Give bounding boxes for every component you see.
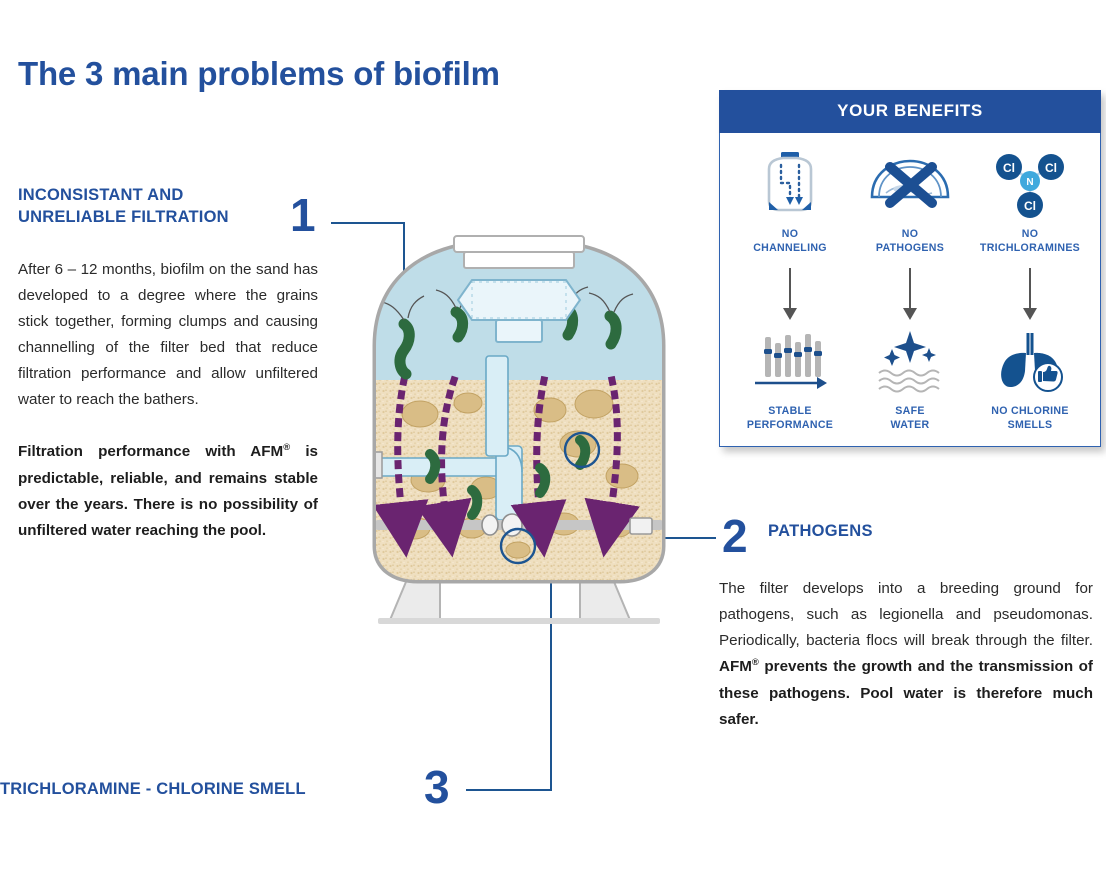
svg-text:Cl: Cl <box>1003 161 1015 175</box>
safe-water-sparkle-icon <box>850 326 970 398</box>
label-line-2: TRICHLORAMINES <box>980 242 1080 254</box>
label-line-1: NO <box>782 228 799 240</box>
afm-bold-prefix: Filtration performance with AFM <box>18 443 283 460</box>
svg-text:Cl: Cl <box>1045 161 1057 175</box>
section-heading-pathogens: PATHOGENS <box>768 522 873 541</box>
svg-text:N: N <box>1026 177 1033 188</box>
benefit-no-pathogens: NO PATHOGENS <box>850 149 970 256</box>
lungs-thumbs-up-icon <box>970 326 1090 398</box>
marker-number-3: 3 <box>424 764 450 810</box>
label-line-1: NO <box>902 228 919 240</box>
label-line-1: NO <box>1022 228 1039 240</box>
down-arrow-icon <box>730 268 850 322</box>
afm-bold-prefix: AFM <box>719 658 752 675</box>
benefit-label-no-pathogens: NO PATHOGENS <box>850 227 970 256</box>
heading-line-1: INCONSISTANT AND <box>18 186 183 204</box>
label-line-2: PATHOGENS <box>876 242 944 254</box>
benefit-no-channeling: NO CHANNELING <box>730 149 850 256</box>
pathogens-text-normal: The filter develops into a breeding grou… <box>719 580 1093 649</box>
benefits-arrow-row <box>730 268 1090 322</box>
trichloramine-molecule-icon: Cl Cl N Cl <box>970 149 1090 221</box>
no-pathogens-icon <box>850 149 970 221</box>
side-nozzle <box>630 518 652 534</box>
benefits-panel: YOUR BENEFITS <box>719 90 1101 447</box>
bacterium <box>430 454 435 479</box>
filter-lid <box>454 236 584 268</box>
label-line-2: WATER <box>891 419 930 431</box>
benefits-top-row: NO CHANNELING <box>730 149 1090 256</box>
benefit-stable-performance: STABLE PERFORMANCE <box>730 326 850 433</box>
bacterium <box>540 468 545 493</box>
benefit-label-no-trichloramines: NO TRICHLORAMINES <box>970 227 1090 256</box>
filtration-bold-paragraph: Filtration performance with AFM® is pred… <box>18 439 318 544</box>
bacterium <box>472 490 477 515</box>
benefits-bottom-row: STABLE PERFORMANCE <box>730 326 1090 433</box>
bacterium-circled <box>580 440 585 465</box>
filtration-paragraph: After 6 – 12 months, biofilm on the sand… <box>18 257 318 414</box>
benefit-label-safe-water: SAFE WATER <box>850 404 970 433</box>
marker-number-1: 1 <box>290 192 316 238</box>
sand-filter-diagram <box>368 228 670 633</box>
registered-mark: ® <box>752 656 759 667</box>
infographic-page: The 3 main problems of biofilm INCONSIST… <box>0 0 1106 869</box>
left-column: INCONSISTANT AND UNRELIABLE FILTRATION A… <box>18 185 318 544</box>
benefit-label-stable-performance: STABLE PERFORMANCE <box>730 404 850 433</box>
benefit-label-no-channeling: NO CHANNELING <box>730 227 850 256</box>
afm-bold-rest: prevents the growth and the transmission… <box>719 658 1093 727</box>
heading-line-2: UNRELIABLE FILTRATION <box>18 208 229 226</box>
benefit-no-chlorine-smells: NO CHLORINE SMELLS <box>970 326 1090 433</box>
leader-line-1-horizontal <box>331 222 405 224</box>
pathogens-paragraph: The filter develops into a breeding grou… <box>719 576 1093 733</box>
label-line-1: NO CHLORINE <box>991 405 1068 417</box>
stable-performance-chart-icon <box>730 326 850 398</box>
leader-line-3-horizontal <box>466 789 552 791</box>
down-arrow-icon <box>850 268 970 322</box>
benefit-label-no-chlorine-smells: NO CHLORINE SMELLS <box>970 404 1090 433</box>
marker-number-2: 2 <box>722 513 748 559</box>
benefits-panel-body: NO CHANNELING <box>719 133 1101 447</box>
pathogens-text-bold: AFM® prevents the growth and the transmi… <box>719 658 1093 727</box>
underdrain-valves <box>482 514 542 536</box>
benefit-safe-water: SAFE WATER <box>850 326 970 433</box>
down-arrow-icon <box>970 268 1090 322</box>
label-line-1: SAFE <box>895 405 924 417</box>
page-title: The 3 main problems of biofilm <box>18 55 658 93</box>
benefits-panel-header: YOUR BENEFITS <box>719 90 1101 133</box>
svg-text:Cl: Cl <box>1024 199 1036 213</box>
label-line-2: PERFORMANCE <box>747 419 833 431</box>
label-line-2: CHANNELING <box>753 242 827 254</box>
label-line-1: STABLE <box>768 405 811 417</box>
benefit-no-trichloramines: Cl Cl N Cl NO TRICHLORAMINES <box>970 149 1090 256</box>
filter-no-channeling-icon <box>730 149 850 221</box>
section-heading-trichloramine: TRICHLORAMINE - CHLORINE SMELL <box>0 780 420 799</box>
section-heading-filtration: INCONSISTANT AND UNRELIABLE FILTRATION <box>18 185 318 229</box>
label-line-2: SMELLS <box>1008 419 1053 431</box>
